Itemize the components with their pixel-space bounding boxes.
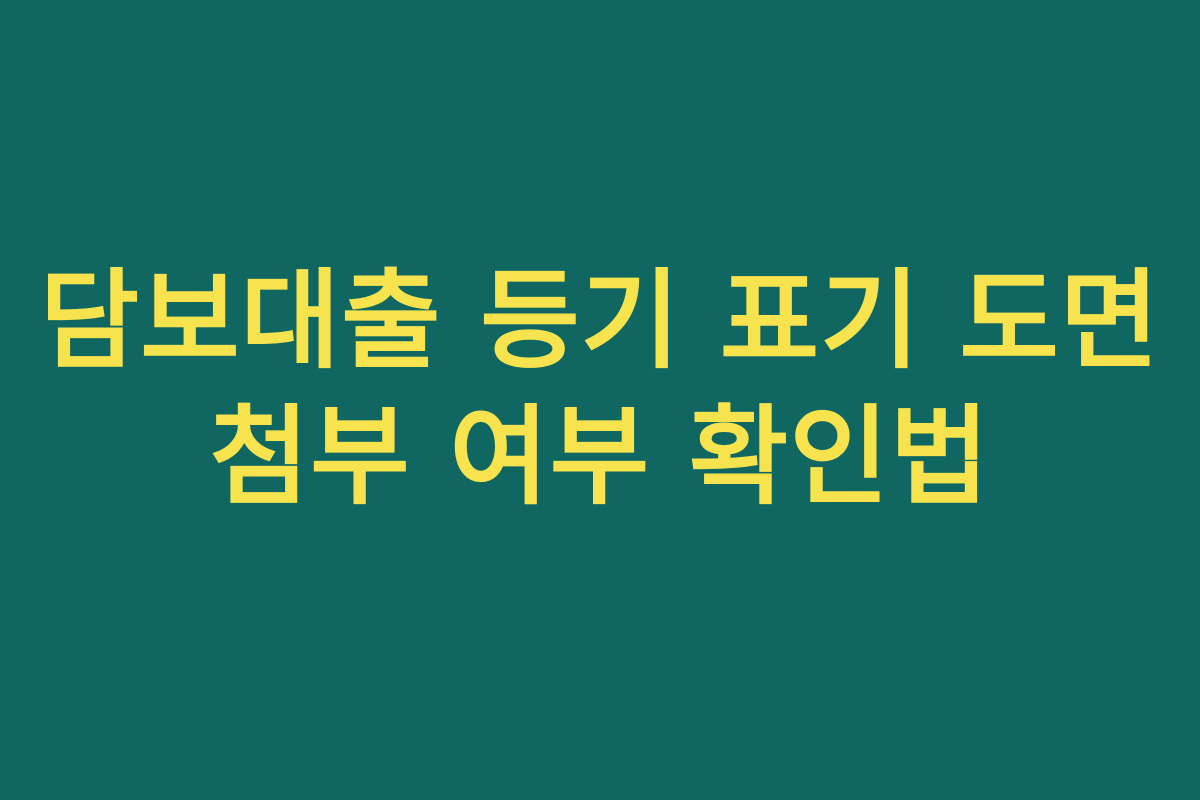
title-block: 담보대출 등기 표기 도면 첨부 여부 확인법 — [50, 254, 1150, 526]
title-line-1: 담보대출 등기 표기 도면 — [40, 254, 1160, 390]
title-line-2: 첨부 여부 확인법 — [210, 390, 990, 526]
thumbnail-canvas: 담보대출 등기 표기 도면 첨부 여부 확인법 — [0, 0, 1200, 800]
